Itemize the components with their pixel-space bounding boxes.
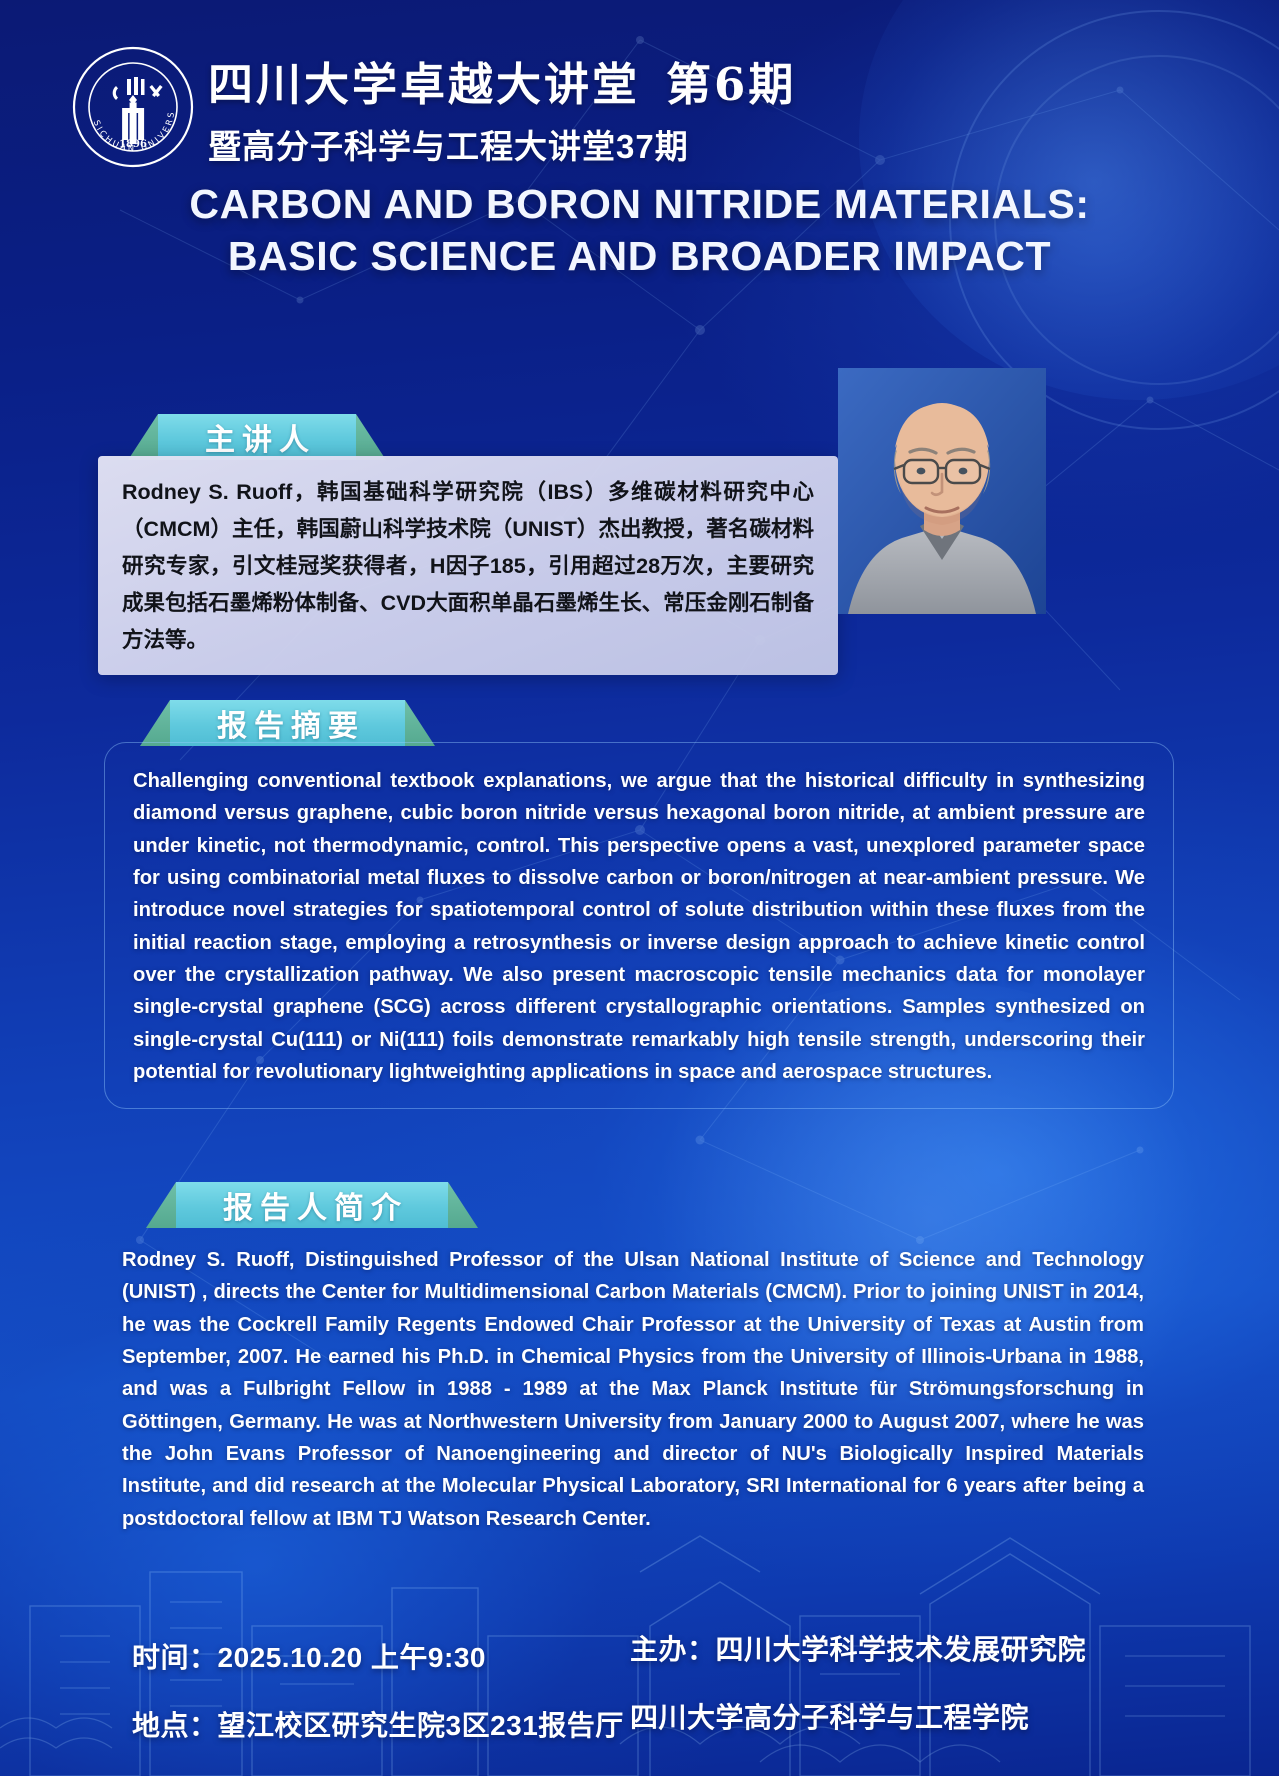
poster-root: 1896 SICHUAN UNIVERSITY 四川大学卓越大讲堂第6期 暨高分… xyxy=(0,0,1279,1776)
lecture-issue-number: 第6期 xyxy=(666,58,796,111)
event-organizer: 四川大学高分子科学与工程学院 xyxy=(630,1696,1190,1736)
poster-header: 1896 SICHUAN UNIVERSITY 四川大学卓越大讲堂第6期 暨高分… xyxy=(0,38,1279,188)
ribbon-wing-left xyxy=(140,700,170,746)
biography-container: Rodney S. Ruoff, Distinguished Professor… xyxy=(110,1222,1168,1553)
ribbon-body: 主讲人 xyxy=(158,414,356,460)
page-title: CARBON AND BORON NITRIDE MATERIALS: BASI… xyxy=(0,178,1279,283)
lecture-subtitle: 暨高分子科学与工程大讲堂37期 xyxy=(208,120,796,168)
ribbon-wing-right xyxy=(405,700,435,746)
section-header-abstract: 报告摘要 xyxy=(140,700,435,746)
speaker-info-card: Rodney S. Ruoff，韩国基础科学研究院（IBS）多维碳材料研究中心（… xyxy=(98,456,838,675)
header-title-block: 四川大学卓越大讲堂第6期 暨高分子科学与工程大讲堂37期 xyxy=(208,58,796,168)
abstract-container: Challenging conventional textbook explan… xyxy=(104,742,1174,1109)
event-place: 地点：望江校区研究生院3区231报告厅 xyxy=(124,1704,684,1744)
ribbon-wing-left xyxy=(128,414,158,460)
speaker-portrait-photo xyxy=(838,368,1046,614)
footer-organizers: 主办：四川大学科学技术发展研究院 四川大学高分子科学与工程学院 xyxy=(630,1628,1190,1736)
lecture-series-name: 四川大学卓越大讲堂 xyxy=(208,58,640,111)
section-label-biography: 报告人简介 xyxy=(216,1183,408,1227)
event-time: 时间：2025.10.20 上午9:30 xyxy=(124,1636,684,1676)
section-label-speaker: 主讲人 xyxy=(198,415,316,459)
biography-text: Rodney S. Ruoff, Distinguished Professor… xyxy=(122,1244,1144,1535)
abstract-text: Challenging conventional textbook explan… xyxy=(133,765,1145,1088)
event-host: 主办：四川大学科学技术发展研究院 xyxy=(630,1628,1190,1668)
footer-event-details: 时间：2025.10.20 上午9:30 地点：望江校区研究生院3区231报告厅 xyxy=(124,1636,684,1744)
sichuan-university-logo-icon: 1896 SICHUAN UNIVERSITY xyxy=(72,46,194,168)
ribbon-body: 报告摘要 xyxy=(170,700,405,746)
section-header-speaker: 主讲人 xyxy=(128,414,386,460)
speaker-description: Rodney S. Ruoff，韩国基础科学研究院（IBS）多维碳材料研究中心（… xyxy=(122,474,814,659)
section-label-abstract: 报告摘要 xyxy=(210,701,365,745)
ribbon-wing-right xyxy=(356,414,386,460)
lecture-series-title: 四川大学卓越大讲堂第6期 xyxy=(208,58,796,111)
